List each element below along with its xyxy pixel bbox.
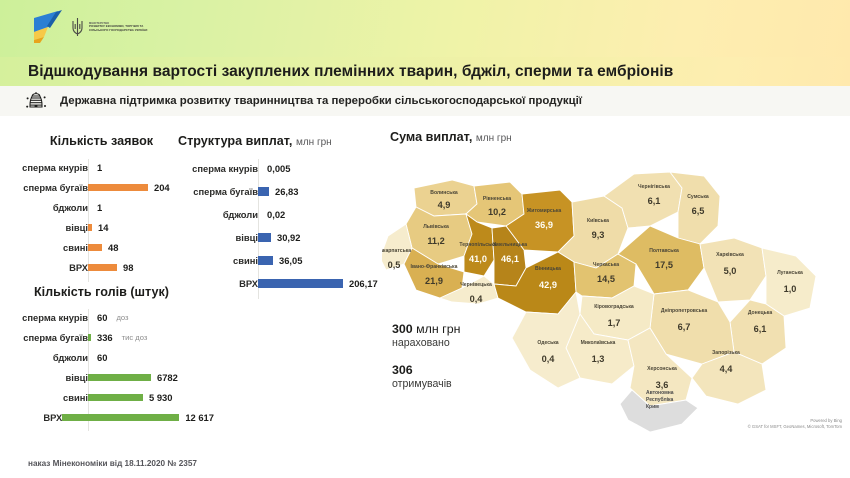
region-label-kyivska: Київська [587,218,609,224]
chart-applications: Кількість заявок сперма кнурів 1 сперма … [14,134,189,277]
region-label-cherkaska: Черкаська [593,262,619,268]
bar-label: бджоли [14,202,88,213]
region-value-volynska: 4,9 [438,200,451,210]
region-value-ternopilska: 41,0 [469,254,487,264]
region-value-luhanska: 1,0 [784,284,797,294]
page-title: Відшкодування вартості закуплених племін… [28,63,673,81]
bar-value: 26,83 [275,186,298,197]
page-subtitle: Державна підтримка розвитку тваринництва… [60,95,582,107]
footer-note: наказ Мінекономіки від 18.11.2020 № 2357 [28,459,197,468]
region-value-dnipropetrovska: 6,7 [678,322,691,332]
region-value-zhytomyrska: 36,9 [535,220,553,230]
region-value-zakarpatska: 0,5 [388,260,401,270]
map-title-text: Сума виплат, [390,130,472,144]
bar-fill [258,279,343,288]
summary-recipients-block: 306 отримувачів [392,363,460,390]
bar-label: сперма бугаїв [178,186,258,197]
region-label-sumska: Сумська [687,194,709,200]
region-label-zakarpatska: Закарпатська [382,248,411,254]
chart-payments-title-text: Структура виплат, [178,134,292,148]
bar-value: 12 617 [185,412,214,423]
region-label-krym-l2: Республіка [646,396,674,403]
bar-fill [88,264,117,271]
ukraine-map[interactable]: Волинська 4,9 Рівненська 10,2 Житомирськ… [382,152,850,437]
bar-fill [88,244,102,251]
bar-row: свині 48 [14,237,189,257]
map-unit: млн грн [476,133,512,144]
region-label-odeska: Одеська [537,340,558,346]
bar-fill [88,184,148,191]
bar-fill [88,374,151,381]
region-value-poltavska: 17,5 [655,260,673,270]
bar-value: 36,05 [279,255,302,266]
map-title: Сума виплат, млн грн [390,130,512,144]
bar-label: сперма бугаїв [14,182,88,193]
bar-label: вівці [14,372,88,383]
summary-recipients-caption: отримувачів [392,378,460,390]
region-label-lvivska: Львівська [423,224,449,230]
bar-row: вівці 6782 [14,367,214,387]
bar-label: свині [14,392,88,403]
summary-amount-unit: млн грн [416,322,460,336]
region-value-cherkaska: 14,5 [597,274,615,284]
bar-fill [62,414,179,421]
region-value-kyivska: 9,3 [592,230,605,240]
bar-label: вівці [14,222,88,233]
chart-heads: Кількість голів (штук) сперма кнурів 60 … [14,285,214,427]
bar-label: бджоли [178,209,258,220]
bar-value: 0,02 [267,209,285,220]
region-value-zaporizka: 4,4 [720,364,734,374]
bar-value: 1 [97,162,102,173]
region-label-zhytomyrska: Житомирська [526,208,562,214]
bar-value: 60 [97,352,107,363]
region-label-mykolaivska: Миколаївська [581,340,616,346]
bar-row: бджоли 1 [14,197,189,217]
bar-label: вівці [178,232,258,243]
region-label-ivano-frankivska: Івано-Франківська [411,264,458,270]
region-label-donetska: Донецька [748,310,773,316]
logo-line-3: СІЛЬСЬКОГО ГОСПОДАРСТВА УКРАЇНИ [89,29,147,33]
bar-row: свині 5 930 [14,387,214,407]
bar-row: свині 36,05 [178,249,378,272]
region-label-kharkivska: Харківська [716,252,744,258]
bar-fill [258,187,269,196]
region-label-khmelnytska: Хмельницька [493,242,527,248]
region-label-krym-l1: Автономна [646,390,674,396]
bar-row: сперма бугаїв 336 тис доз [14,327,214,347]
bar-value: 6782 [157,372,178,383]
title-band: Відшкодування вартості закуплених племін… [0,57,850,86]
bar-label: сперма кнурів [178,163,258,174]
region-value-chernivetska: 0,4 [470,294,484,304]
bar-value: 0,005 [267,163,290,174]
attribution-copyright: © GSAT for MSFT, GeoNames, Microsoft, To… [748,424,842,430]
bar-value: 204 [154,182,170,193]
bar-note: доз [116,313,128,322]
chart-payments-unit: млн грн [296,137,332,148]
region-label-vinnytska: Вінницька [535,266,561,272]
ministry-logo-text: МІНІСТЕРСТВО РОЗВИТКУ ЕКОНОМІКИ, ТОРГІВЛ… [89,22,147,33]
region-value-kharkivska: 5,0 [724,266,737,276]
summary-block: 300 млн грн нараховано 306 отримувачів [392,322,460,390]
bar-value: 14 [98,222,108,233]
region-value-sumska: 6,5 [692,206,705,216]
chart-payments-map: Сума виплат, млн грн [382,130,850,445]
region-value-khersonska: 3,6 [656,380,669,390]
region-value-odeska: 0,4 [542,354,556,364]
chart-applications-title: Кількість заявок [14,134,189,148]
bar-label: свині [14,242,88,253]
bar-value: 5 930 [149,392,172,403]
infographic-page: МІНІСТЕРСТВО РОЗВИТКУ ЕКОНОМІКИ, ТОРГІВЛ… [0,0,850,478]
bar-label: сперма кнурів [14,162,88,173]
chart-payments-title: Структура виплат, млн грн [178,134,378,148]
bar-fill [88,334,91,341]
beehive-icon [24,89,48,113]
bar-value: 98 [123,262,133,273]
bar-row: ВРХ 98 [14,257,189,277]
bar-fill [88,394,143,401]
region-label-chernivetska: Чернівецька [460,282,492,288]
bar-value: 1 [97,202,102,213]
summary-amount-value: 300 [392,322,413,336]
bar-label: ВРХ [178,278,258,289]
bar-row: ВРХ 206,17 [178,272,378,295]
region-value-khmelnytska: 46,1 [501,254,519,264]
region-value-mykolaivska: 1,3 [592,354,605,364]
region-label-kirovohradska: Кіровоградська [594,304,634,310]
bar-label: сперма кнурів [14,312,88,323]
bar-row: сперма кнурів 0,005 [178,157,378,180]
bar-row: сперма кнурів 1 [14,157,189,177]
bar-value: 206,17 [349,278,378,289]
region-value-rivnenska: 10,2 [488,207,506,217]
region-label-ternopilska: Тернопільська [459,242,496,248]
region-label-chernihivska: Чернігівська [638,184,670,190]
summary-recipients-value: 306 [392,363,460,377]
region-label-luhanska: Луганська [777,270,803,276]
region-luhanska[interactable] [762,248,816,316]
bar-row: бджоли 60 [14,347,214,367]
bar-row: вівці 30,92 [178,226,378,249]
bar-label: ВРХ [14,412,62,423]
subtitle-row: Державна підтримка розвитку тваринництва… [0,86,850,116]
summary-amount-caption: нараховано [392,337,460,349]
bar-row: сперма кнурів 60 доз [14,307,214,327]
bar-value: 48 [108,242,118,253]
bar-value: 60 [97,312,107,323]
region-label-zaporizka: Запорізька [712,350,740,356]
map-attribution: Powered by Bing © GSAT for MSFT, GeoName… [748,418,842,430]
bar-row: вівці 14 [14,217,189,237]
bar-label: бджоли [14,352,88,363]
bar-fill [258,256,273,265]
region-label-dnipropetrovska: Дніпропетровська [661,308,707,314]
region-value-vinnytska: 42,9 [539,280,557,290]
bar-fill [258,233,271,242]
header-band: МІНІСТЕРСТВО РОЗВИТКУ ЕКОНОМІКИ, ТОРГІВЛ… [0,0,850,57]
region-value-ivano-frankivska: 21,9 [425,276,443,286]
chart-heads-rows: сперма кнурів 60 доз сперма бугаїв 336 т… [14,307,214,427]
region-label-krym-l3: Крим [646,404,659,410]
chart-applications-rows: сперма кнурів 1 сперма бугаїв 204 бджоли… [14,157,189,277]
bar-label: сперма бугаїв [14,332,88,343]
bar-fill [88,224,92,231]
region-value-lvivska: 11,2 [427,236,444,246]
chart-heads-title: Кількість голів (штук) [14,285,189,299]
region-label-poltavska: Полтавська [649,248,679,254]
bar-label: ВРХ [14,262,88,273]
tryzub-icon [71,17,84,37]
region-label-khersonska: Херсонська [647,366,677,372]
flag-icon [28,10,66,44]
bar-note: тис доз [122,333,148,342]
chart-payments-rows: сперма кнурів 0,005 сперма бугаїв 26,83 … [178,157,378,295]
bar-value: 336 [97,332,113,343]
chart-payments-structure: Структура виплат, млн грн сперма кнурів … [178,134,378,295]
summary-amount-line: 300 млн грн [392,322,460,336]
region-value-chernihivska: 6,1 [648,196,661,206]
region-value-kirovohradska: 1,7 [608,318,621,328]
region-label-rivnenska: Рівненська [483,196,511,202]
bar-row: ВРХ 12 617 [14,407,214,427]
bar-label: свині [178,255,258,266]
ministry-logo: МІНІСТЕРСТВО РОЗВИТКУ ЕКОНОМІКИ, ТОРГІВЛ… [28,8,188,46]
region-label-volynska: Волинська [430,190,458,196]
bar-row: сперма бугаїв 204 [14,177,189,197]
bar-value: 30,92 [277,232,300,243]
region-value-donetska: 6,1 [754,324,767,334]
bar-row: сперма бугаїв 26,83 [178,180,378,203]
bar-row: бджоли 0,02 [178,203,378,226]
